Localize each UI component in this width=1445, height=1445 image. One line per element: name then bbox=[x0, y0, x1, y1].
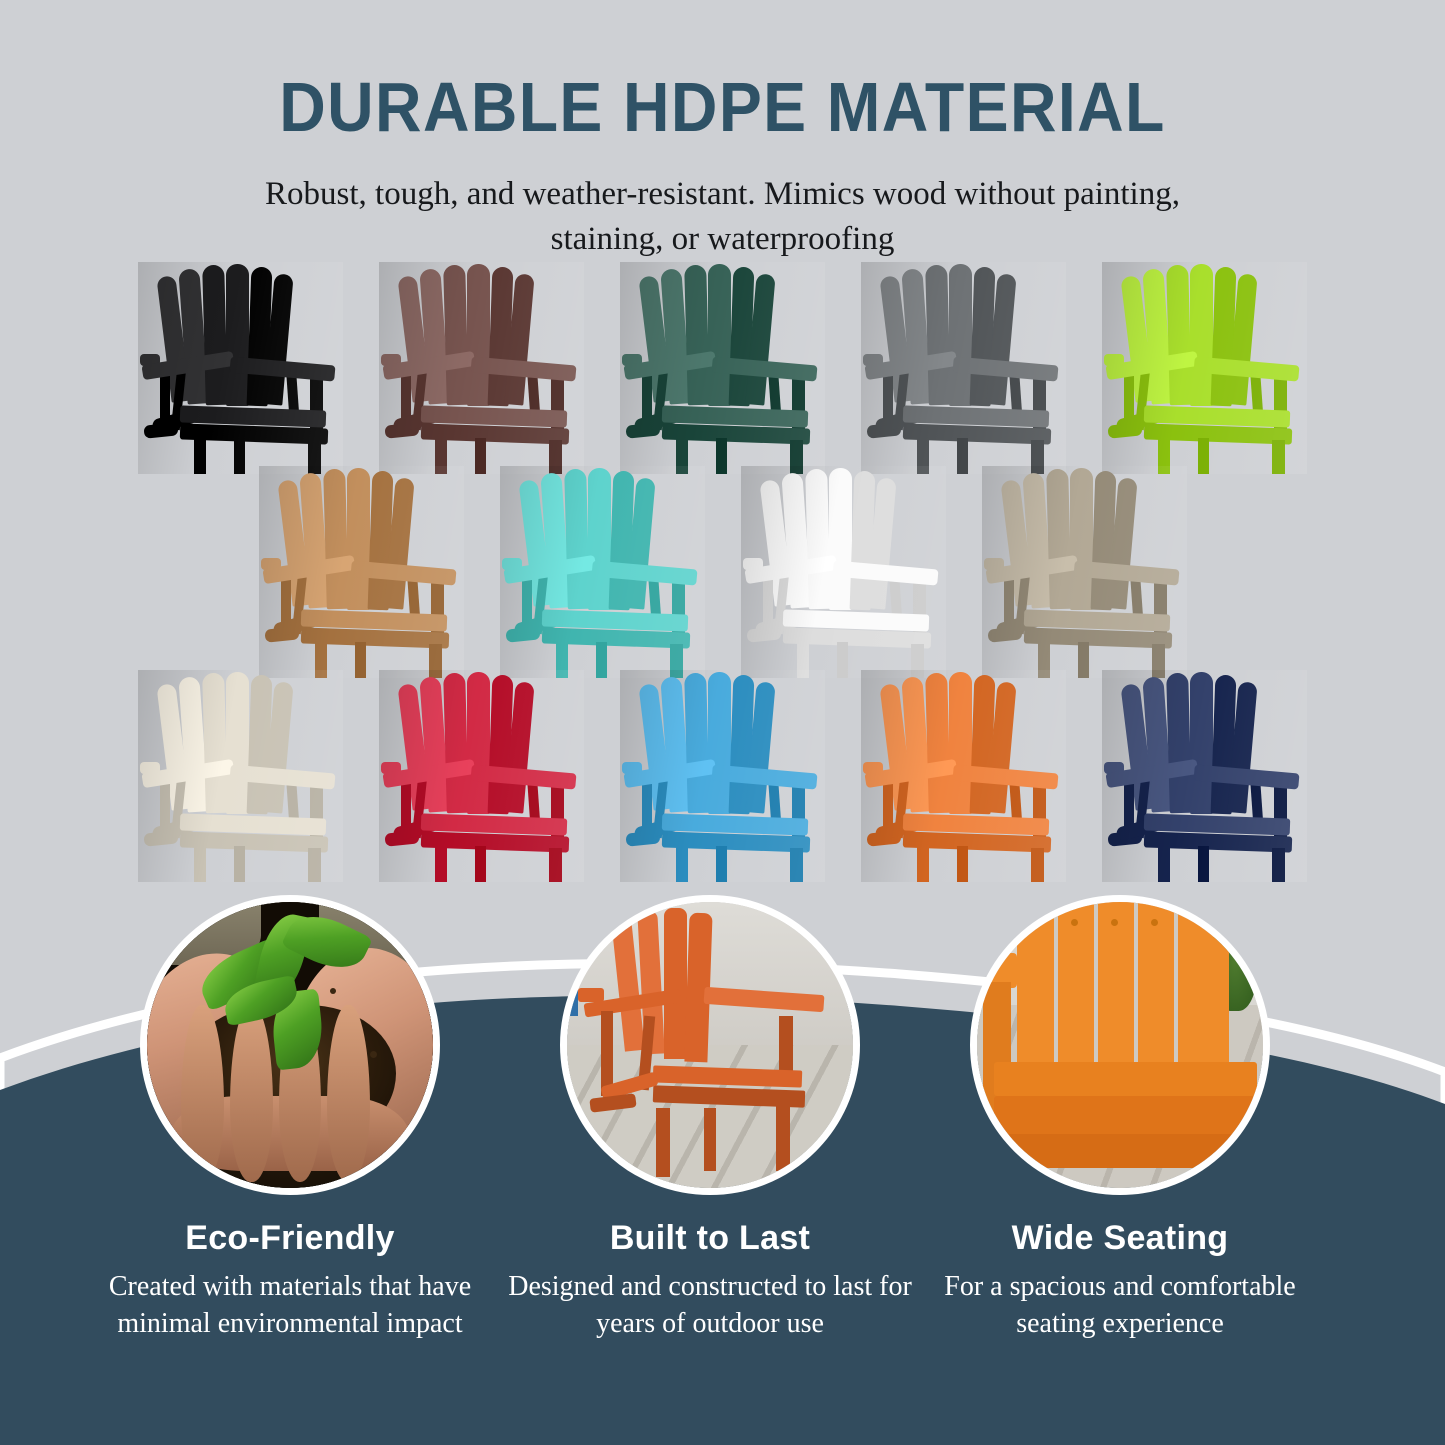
chair-part bbox=[194, 846, 206, 882]
chair-part bbox=[1031, 848, 1044, 882]
chair-swatch-black[interactable] bbox=[138, 262, 343, 474]
chair-part bbox=[588, 468, 611, 610]
chair-swatch-navy-blue[interactable] bbox=[1102, 670, 1307, 882]
chair-part bbox=[829, 468, 852, 610]
chair-part bbox=[475, 846, 486, 882]
page-subtitle: Robust, tough, and weather-resistant. Mi… bbox=[223, 142, 1223, 261]
chair-part bbox=[716, 846, 727, 882]
chair-part bbox=[226, 672, 249, 814]
chair-part bbox=[684, 673, 710, 814]
chair-swatch-light-blue[interactable] bbox=[620, 670, 825, 882]
feature-built-to-last: Built to Last Designed and constructed t… bbox=[490, 895, 930, 1342]
chair-swatch-brown[interactable] bbox=[379, 262, 584, 474]
chair-part bbox=[708, 672, 731, 814]
page-title: DURABLE HDPE MATERIAL bbox=[58, 0, 1387, 142]
chair-swatch-ivory[interactable] bbox=[138, 670, 343, 882]
chair-part bbox=[467, 264, 490, 406]
chair-part bbox=[1272, 440, 1285, 474]
header: DURABLE HDPE MATERIAL Robust, tough, and… bbox=[0, 0, 1445, 261]
chair-swatch-taupe[interactable] bbox=[982, 466, 1187, 678]
chair-part bbox=[1070, 468, 1093, 610]
chair-part bbox=[957, 438, 968, 474]
chair-row-2 bbox=[0, 466, 1445, 678]
chair-part bbox=[564, 469, 590, 610]
chair-part bbox=[443, 265, 469, 406]
adirondack-chair-icon bbox=[1102, 262, 1307, 474]
chair-row-3 bbox=[0, 670, 1445, 882]
chair-swatch-teak[interactable] bbox=[259, 466, 464, 678]
chair-swatch-red[interactable] bbox=[379, 670, 584, 882]
chair-part bbox=[234, 846, 245, 882]
chair-part bbox=[323, 469, 349, 610]
chair-row-1 bbox=[0, 262, 1445, 474]
adirondack-chair-icon bbox=[379, 670, 584, 882]
chair-swatch-turquoise[interactable] bbox=[500, 466, 705, 678]
chair-part bbox=[202, 673, 228, 814]
chair-color-grid bbox=[0, 262, 1445, 882]
chair-part bbox=[1190, 264, 1213, 406]
adirondack-chair-icon bbox=[138, 670, 343, 882]
chair-part bbox=[917, 846, 929, 882]
chair-part bbox=[1198, 438, 1209, 474]
adirondack-chair-icon bbox=[620, 262, 825, 474]
chair-part bbox=[1078, 642, 1089, 678]
adirondack-chair-icon bbox=[620, 670, 825, 882]
chair-part bbox=[790, 848, 803, 882]
chair-part bbox=[1158, 846, 1170, 882]
chair-part bbox=[226, 264, 249, 406]
feature-list: Eco-Friendly Created with materials that… bbox=[0, 895, 1445, 1445]
chair-swatch-dark-green[interactable] bbox=[620, 262, 825, 474]
chair-part bbox=[676, 846, 688, 882]
orange-chair-wide-seat-closeup-photo bbox=[977, 902, 1263, 1188]
chair-part bbox=[1272, 848, 1285, 882]
feature-photo-orange-chair bbox=[560, 895, 860, 1195]
chair-part bbox=[1198, 846, 1209, 882]
chair-part bbox=[443, 673, 469, 814]
adirondack-chair-icon bbox=[500, 466, 705, 678]
chair-swatch-orange[interactable] bbox=[861, 670, 1066, 882]
chair-part bbox=[549, 848, 562, 882]
chair-part bbox=[708, 264, 731, 406]
chair-swatch-lime-green[interactable] bbox=[1102, 262, 1307, 474]
chair-swatch-gray[interactable] bbox=[861, 262, 1066, 474]
adirondack-chair-icon bbox=[861, 262, 1066, 474]
chair-part bbox=[1190, 672, 1213, 814]
feature-description: Created with materials that have minimal… bbox=[80, 1268, 500, 1342]
feature-photo-hands-seedling bbox=[140, 895, 440, 1195]
chair-part bbox=[957, 846, 968, 882]
chair-part bbox=[837, 642, 848, 678]
chair-part bbox=[949, 672, 972, 814]
infographic-canvas: DURABLE HDPE MATERIAL Robust, tough, and… bbox=[0, 0, 1445, 1445]
chair-part bbox=[475, 438, 486, 474]
feature-title: Eco-Friendly bbox=[70, 1219, 510, 1258]
chair-part bbox=[194, 438, 206, 474]
chair-part bbox=[805, 469, 831, 610]
adirondack-chair-icon bbox=[982, 466, 1187, 678]
adirondack-chair-icon bbox=[259, 466, 464, 678]
chair-part bbox=[716, 438, 727, 474]
adirondack-chair-icon bbox=[861, 670, 1066, 882]
chair-part bbox=[347, 468, 370, 610]
chair-part bbox=[355, 642, 366, 678]
feature-wide-seating: Wide Seating For a spacious and comforta… bbox=[900, 895, 1340, 1342]
chair-swatch-white[interactable] bbox=[741, 466, 946, 678]
adirondack-chair-icon bbox=[741, 466, 946, 678]
chair-part bbox=[596, 642, 607, 678]
feature-description: Designed and constructed to last for yea… bbox=[500, 1268, 920, 1342]
chair-part bbox=[467, 672, 490, 814]
feature-title: Wide Seating bbox=[900, 1219, 1340, 1258]
hands-holding-seedling-photo bbox=[147, 902, 433, 1188]
chair-part bbox=[308, 848, 321, 882]
chair-part bbox=[925, 265, 951, 406]
feature-eco-friendly: Eco-Friendly Created with materials that… bbox=[70, 895, 510, 1342]
feature-photo-wide-seat bbox=[970, 895, 1270, 1195]
chair-part bbox=[435, 846, 447, 882]
adirondack-chair-icon bbox=[1102, 670, 1307, 882]
chair-part bbox=[234, 438, 245, 474]
feature-title: Built to Last bbox=[490, 1219, 930, 1258]
chair-part bbox=[925, 673, 951, 814]
chair-part bbox=[949, 264, 972, 406]
chair-part bbox=[202, 265, 228, 406]
adirondack-chair-icon bbox=[138, 262, 343, 474]
chair-part bbox=[1166, 265, 1192, 406]
feature-description: For a spacious and comfortable seating e… bbox=[910, 1268, 1330, 1342]
chair-part bbox=[1046, 469, 1072, 610]
orange-adirondack-chair-on-patio-photo bbox=[567, 902, 853, 1188]
chair-part bbox=[684, 265, 710, 406]
adirondack-chair-icon bbox=[379, 262, 584, 474]
chair-part bbox=[1166, 673, 1192, 814]
